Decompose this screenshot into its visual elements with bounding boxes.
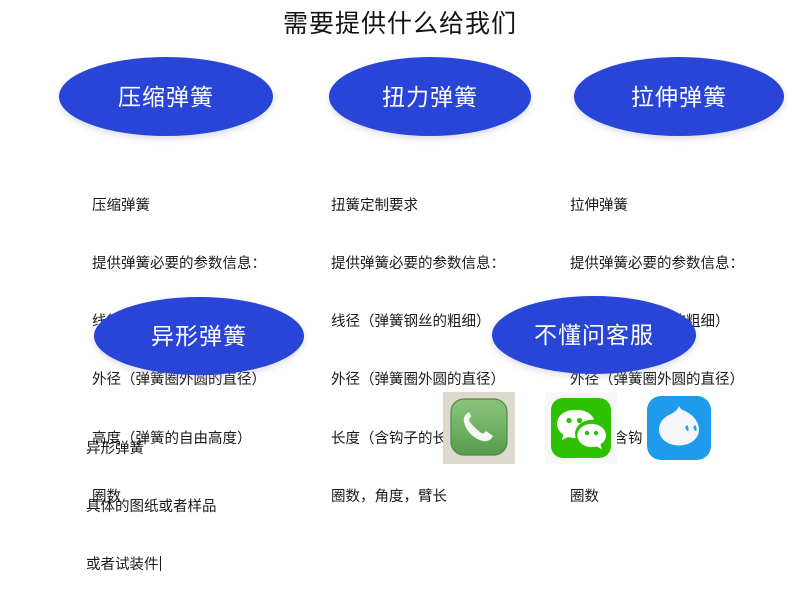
phone-icon[interactable] bbox=[443, 392, 515, 464]
spec-line: 圈数，角度，臂长 bbox=[331, 488, 505, 507]
spec-line: 提供弹簧必要的参数信息： bbox=[331, 255, 505, 274]
spec-line: 外径（弹簧圈外圆的直径） bbox=[331, 371, 505, 390]
ellipse-label: 扭力弹簧 bbox=[382, 84, 478, 110]
ellipse-label: 异形弹簧 bbox=[151, 323, 247, 349]
ellipse-label: 压缩弹簧 bbox=[118, 84, 214, 110]
ellipse-label: 拉伸弹簧 bbox=[631, 84, 727, 110]
ellipse-torsion-spring[interactable]: 扭力弹簧 bbox=[329, 57, 531, 136]
spec-line: 提供弹簧必要的参数信息： bbox=[570, 255, 744, 274]
spec-line: 外径（弹簧圈外圆的直径） bbox=[92, 371, 266, 390]
text-cursor bbox=[160, 556, 161, 571]
spec-line: 外径（弹簧圈外圆的直径） bbox=[570, 371, 744, 390]
contact-icons-group bbox=[443, 392, 743, 464]
spec-line: 或者试装件 bbox=[86, 556, 217, 575]
spec-line: 扭簧定制要求 bbox=[331, 197, 505, 216]
ellipse-compression-spring[interactable]: 压缩弹簧 bbox=[59, 57, 273, 136]
ellipse-extension-spring[interactable]: 拉伸弹簧 bbox=[574, 57, 784, 136]
spec-line: 压缩弹簧 bbox=[92, 197, 266, 216]
spec-line: 具体的图纸或者样品 bbox=[86, 498, 217, 517]
spec-line-text: 或者试装件 bbox=[86, 557, 159, 573]
ellipse-custom-spring[interactable]: 异形弹簧 bbox=[94, 297, 304, 375]
wangwang-icon[interactable] bbox=[643, 392, 715, 464]
spec-line: 拉伸弹簧 bbox=[570, 197, 744, 216]
spec-line: 线径（弹簧钢丝的粗细） bbox=[331, 313, 505, 332]
ellipse-customer-support[interactable]: 不懂问客服 bbox=[492, 296, 696, 374]
spec-text-custom: 异形弹簧 具体的图纸或者样品 或者试装件 bbox=[86, 401, 217, 595]
spec-line: 圈数 bbox=[570, 488, 744, 507]
wechat-icon[interactable] bbox=[545, 392, 617, 464]
page-title: 需要提供什么给我们 bbox=[0, 8, 800, 40]
spec-line: 异形弹簧 bbox=[86, 440, 217, 459]
spec-line: 提供弹簧必要的参数信息： bbox=[92, 255, 266, 274]
spec-text-torsion: 扭簧定制要求 提供弹簧必要的参数信息： 线径（弹簧钢丝的粗细） 外径（弹簧圈外圆… bbox=[331, 158, 505, 527]
ellipse-label: 不懂问客服 bbox=[534, 322, 654, 348]
